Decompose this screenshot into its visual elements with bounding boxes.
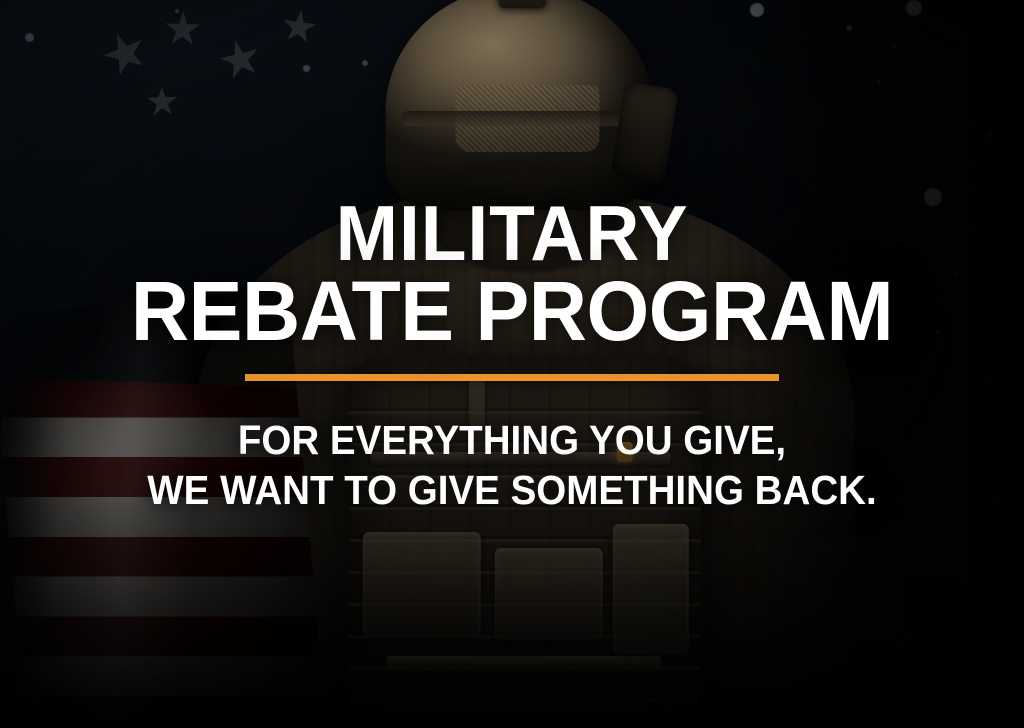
military-rebate-banner: MILITARY REBATE PROGRAM FOR EVERYTHING Y… [0,0,1024,728]
subtitle-line-1: FOR EVERYTHING YOU GIVE, [147,415,876,465]
banner-content: MILITARY REBATE PROGRAM FOR EVERYTHING Y… [0,0,1024,728]
subtitle-line-2: WE WANT TO GIVE SOMETHING BACK. [147,465,876,515]
headline-line-1: MILITARY [131,196,893,271]
accent-divider [245,374,779,381]
subtitle: FOR EVERYTHING YOU GIVE, WE WANT TO GIVE… [147,415,876,515]
headline-line-2: REBATE PROGRAM [131,271,893,352]
page-title: MILITARY REBATE PROGRAM [131,196,893,352]
